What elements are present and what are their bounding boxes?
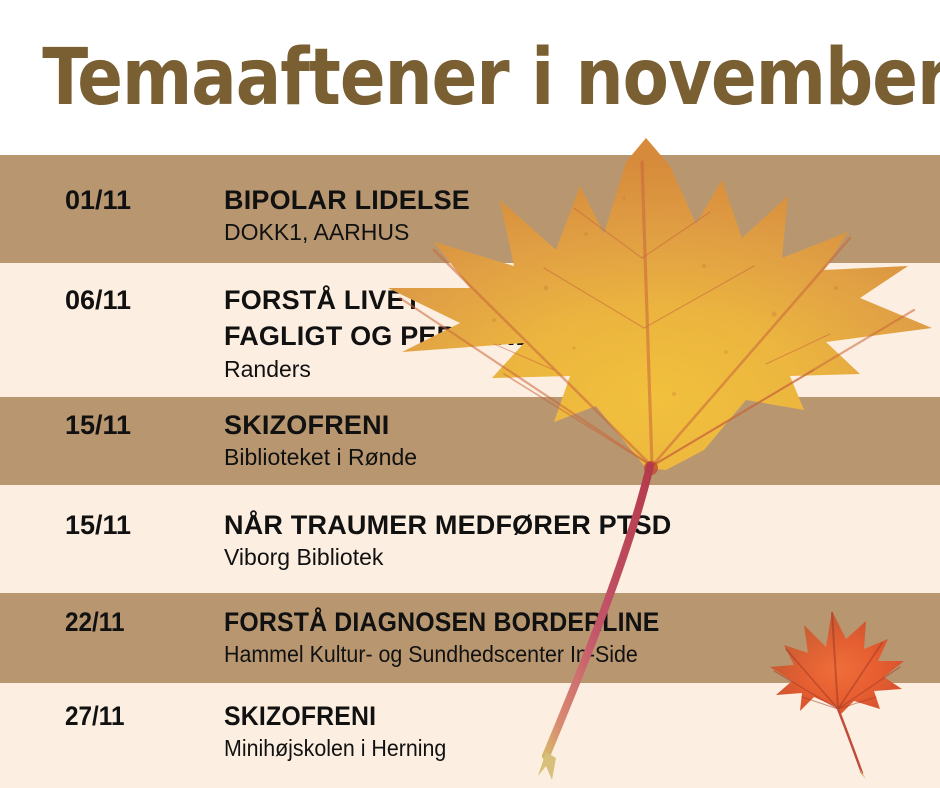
page-title: Temaaftener i november	[0, 39, 940, 117]
event-list: 01/11 BIPOLAR LIDELSE DOKK1, AARHUS 06/1…	[0, 155, 940, 788]
event-date: 15/11	[65, 410, 131, 441]
event-title: NÅR TRAUMER MEDFØRER PTSD	[224, 508, 672, 544]
event-poster: Temaaftener i november 01/11 BIPOLAR LID…	[0, 0, 940, 788]
event-row[interactable]: 27/11 SKIZOFRENI Minihøjskolen i Herning	[0, 683, 940, 788]
event-row[interactable]: 06/11 FORSTÅ LIVET MED AUTISME UD FRA ET…	[0, 263, 940, 397]
event-location: Minihøjskolen i Herning	[224, 735, 446, 762]
event-row[interactable]: 15/11 NÅR TRAUMER MEDFØRER PTSD Viborg B…	[0, 485, 940, 593]
event-title: SKIZOFRENI	[224, 699, 376, 735]
event-title: BIPOLAR LIDELSE	[224, 183, 470, 219]
event-location: DOKK1, AARHUS	[224, 219, 409, 246]
event-date: 15/11	[65, 510, 131, 541]
event-date: 01/11	[65, 185, 131, 216]
event-title: SKIZOFRENI	[224, 408, 390, 444]
event-row[interactable]: 22/11 FORSTÅ DIAGNOSEN BORDERLINE Hammel…	[0, 593, 940, 683]
event-title: FORSTÅ DIAGNOSEN BORDERLINE	[224, 605, 660, 641]
event-location: Biblioteket i Rønde	[224, 444, 417, 471]
event-location: Viborg Bibliotek	[224, 544, 383, 571]
title-bar: Temaaftener i november	[0, 0, 940, 155]
event-location: Randers	[224, 356, 311, 383]
event-row[interactable]: 01/11 BIPOLAR LIDELSE DOKK1, AARHUS	[0, 155, 940, 263]
event-row[interactable]: 15/11 SKIZOFRENI Biblioteket i Rønde	[0, 397, 940, 485]
event-location: Hammel Kultur- og Sundhedscenter In-Side	[224, 641, 638, 668]
event-date: 06/11	[65, 285, 131, 316]
event-title: FORSTÅ LIVET MED AUTISME UD FRA ET FAGLI…	[224, 283, 772, 354]
event-date: 22/11	[65, 607, 124, 638]
event-date: 27/11	[65, 701, 124, 732]
